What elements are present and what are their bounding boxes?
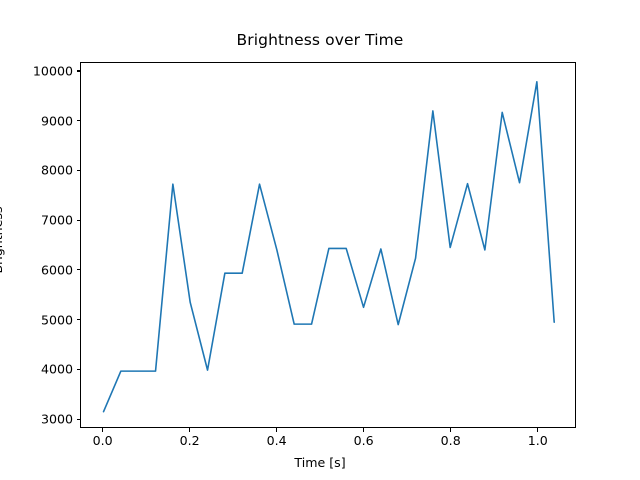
x-tick-label: 0.2	[180, 433, 200, 448]
x-axis-label: Time [s]	[0, 455, 640, 470]
x-tick-mark	[189, 428, 190, 432]
x-tick-mark	[450, 428, 451, 432]
y-axis-label: Brightness	[0, 206, 5, 273]
x-tick-label: 1.0	[528, 433, 548, 448]
figure: Brightness over Time Brightness Time [s]…	[0, 0, 640, 480]
brightness-line	[104, 82, 555, 412]
x-tick-label: 0.8	[441, 433, 461, 448]
y-tick-label: 8000	[41, 163, 73, 178]
x-tick-mark	[537, 428, 538, 432]
x-tick-label: 0.4	[267, 433, 287, 448]
y-tick-label: 10000	[33, 63, 73, 78]
x-tick-mark	[102, 428, 103, 432]
x-tick-label: 0.0	[93, 433, 113, 448]
x-tick-mark	[276, 428, 277, 432]
chart-title: Brightness over Time	[0, 31, 640, 49]
y-tick-label: 9000	[41, 113, 73, 128]
plot-area	[80, 62, 576, 428]
y-tick-label: 7000	[41, 213, 73, 228]
line-series-svg	[81, 63, 575, 427]
x-tick-mark	[363, 428, 364, 432]
y-tick-label: 4000	[41, 362, 73, 377]
x-tick-label: 0.6	[354, 433, 374, 448]
y-tick-label: 6000	[41, 262, 73, 277]
y-tick-label: 3000	[41, 412, 73, 427]
y-tick-label: 5000	[41, 312, 73, 327]
